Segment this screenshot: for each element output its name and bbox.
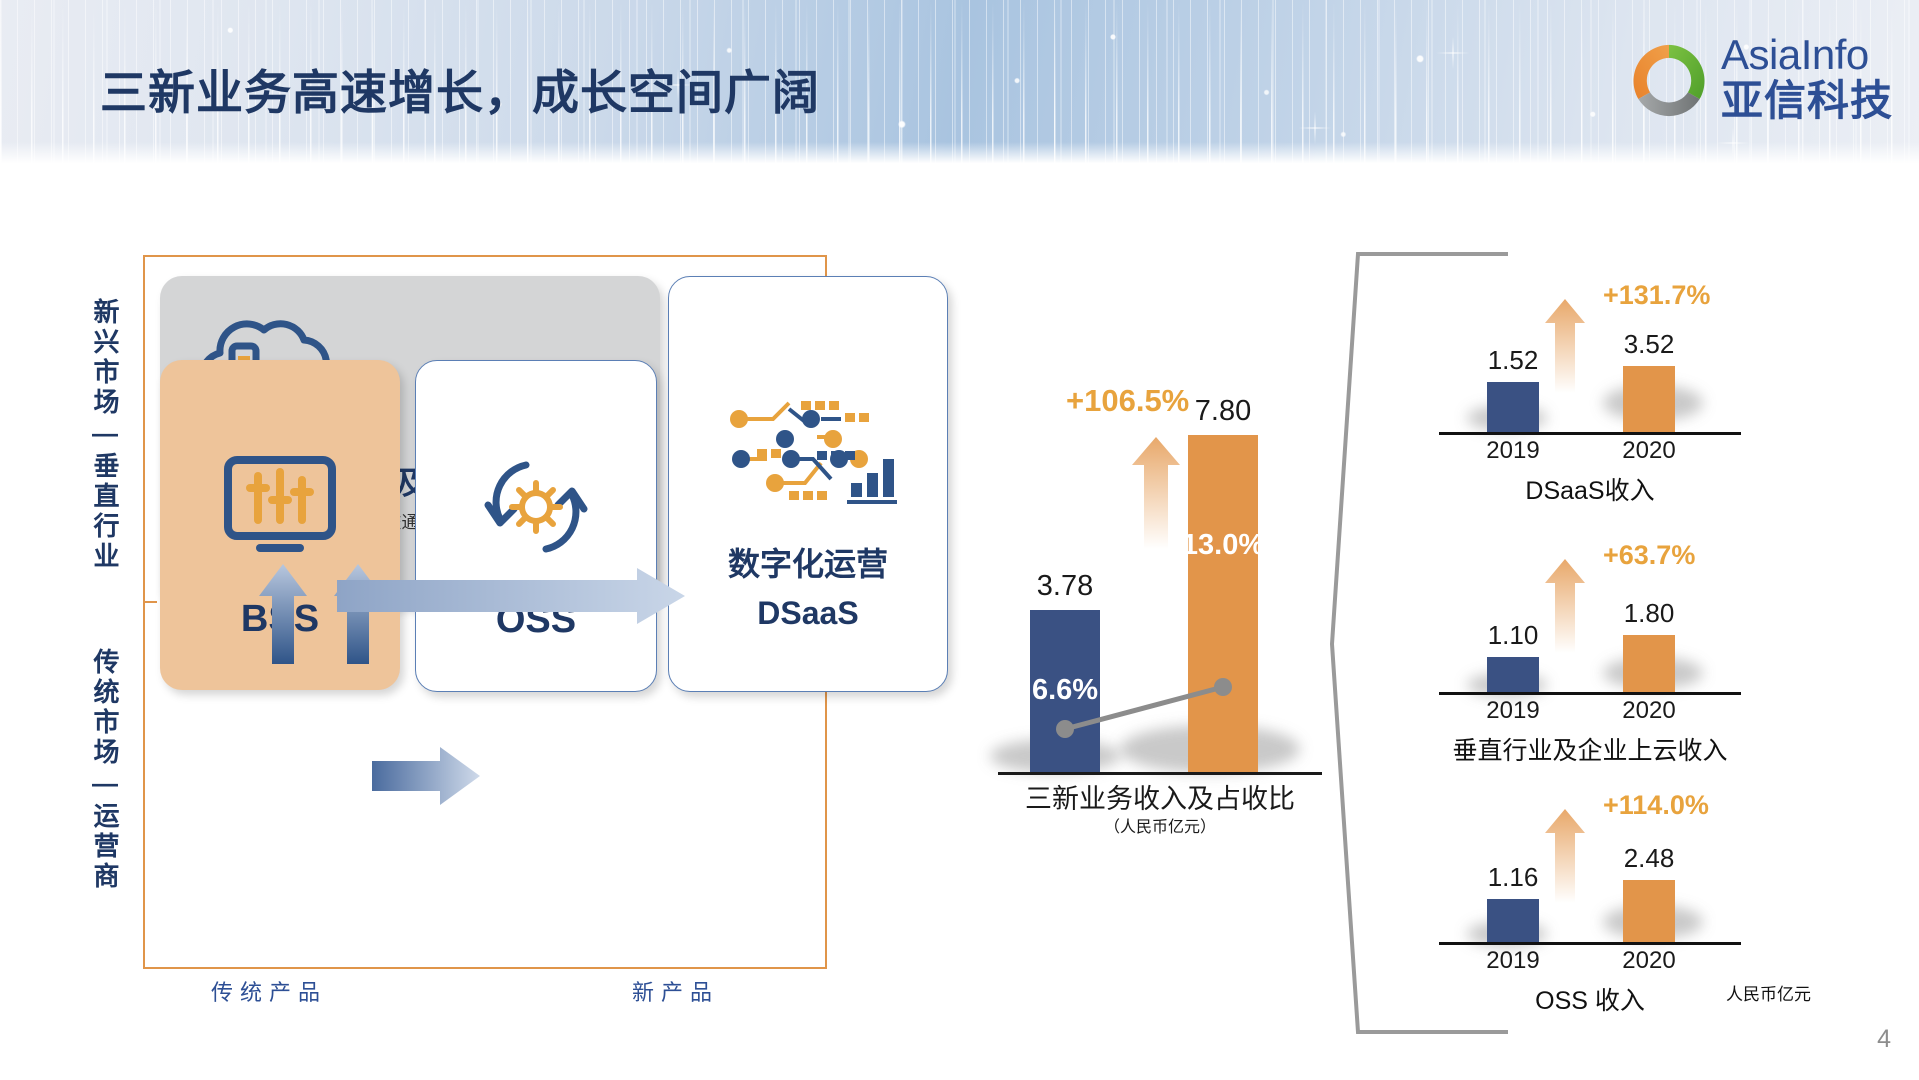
page-number: 4: [1877, 1025, 1891, 1054]
arrow-up-bss-to-cloud-icon: [255, 560, 311, 670]
asiainfo-ring-icon: [1627, 39, 1711, 123]
matrix-x-axis-left-label: 传统产品: [211, 975, 327, 1007]
main-chart-ratio-2020: 13.0%: [1168, 529, 1278, 562]
card-title-dsaas: 数字化运营: [669, 539, 947, 585]
matrix-y-axis-bottom-label: 传统市场—运营商: [92, 648, 118, 948]
oss-chart-bar-2019: [1487, 899, 1539, 942]
dsaas-chart-growth-label: +131.7%: [1603, 280, 1710, 311]
card-subtitle-dsaas: DSaaS: [669, 595, 947, 632]
arrow-right-bss-to-oss-icon: [372, 745, 482, 807]
logo-wordmark: AsiaInfo 亚信科技: [1721, 33, 1897, 129]
vertical-chart-bar-2019: [1487, 657, 1539, 692]
oss-chart-year-2020: 2020: [1589, 947, 1709, 975]
oss-chart-axis-line: [1439, 942, 1741, 945]
page-title: 三新业务高速增长，成长空间广阔: [100, 54, 820, 123]
vertical-chart-value-2020: 1.80: [1589, 598, 1709, 629]
main-chart-unit: （人民币亿元）: [980, 813, 1340, 837]
card-dsaas[interactable]: 数字化运营 DSaaS: [668, 276, 948, 692]
dsaas-chart: +131.7% 1.52 3.52 2019 2020 DSaaS收入: [1425, 285, 1755, 500]
dsaas-chart-title: DSaaS收入: [1425, 471, 1755, 507]
dsaas-chart-year-2019: 2019: [1453, 437, 1573, 465]
banner-bottom-fade: [0, 142, 1919, 168]
matrix-y-axis-top-label: 新兴市场—垂直行业: [92, 298, 118, 598]
dsaas-chart-bar-2019: [1487, 382, 1539, 432]
card-oss[interactable]: OSS: [415, 360, 657, 692]
vertical-chart-axis-line: [1439, 692, 1741, 695]
network-analytics-icon: [717, 397, 899, 509]
main-chart-caption: 三新业务收入及占收比: [980, 777, 1340, 816]
gear-refresh-icon: [474, 447, 598, 567]
main-chart-ratio-2019: 6.6%: [1010, 674, 1120, 707]
right-panel-unit-note: 人民币亿元: [1726, 980, 1811, 1005]
dsaas-chart-value-2020: 3.52: [1589, 329, 1709, 360]
dsaas-chart-bar-2020: [1623, 366, 1675, 432]
oss-chart: +114.0% 1.16 2.48 2019 2020 OSS 收入: [1425, 795, 1755, 1010]
main-chart-bar-2020: [1188, 435, 1258, 772]
oss-chart-year-2019: 2019: [1453, 947, 1573, 975]
main-chart-axis-line: [998, 772, 1322, 775]
oss-chart-title: OSS 收入: [1425, 981, 1755, 1017]
main-chart-value-2020: 7.80: [1163, 395, 1283, 428]
asiainfo-logo: AsiaInfo 亚信科技: [1627, 33, 1897, 129]
main-chart-value-2019: 3.78: [1005, 570, 1125, 603]
monitor-sliders-icon: [220, 452, 340, 560]
dsaas-chart-year-2020: 2020: [1589, 437, 1709, 465]
main-chart: +106.5% 3.78 6.6% 7.80 13.0% 三新业务收入及占收比 …: [980, 395, 1340, 835]
vertical-chart-growth-label: +63.7%: [1603, 540, 1695, 571]
matrix-x-axis-right-label: 新产品: [632, 975, 719, 1007]
oss-chart-value-2019: 1.16: [1453, 862, 1573, 893]
logo-text-cn: 亚信科技: [1721, 80, 1893, 122]
oss-chart-value-2020: 2.48: [1589, 843, 1709, 874]
dsaas-chart-value-2019: 1.52: [1453, 345, 1573, 376]
vertical-chart-year-2019: 2019: [1453, 697, 1573, 725]
arrow-right-to-dsaas-icon: [337, 568, 687, 632]
dsaas-chart-axis-line: [1439, 432, 1741, 435]
oss-chart-growth-label: +114.0%: [1603, 790, 1709, 821]
vertical-chart: +63.7% 1.10 1.80 2019 2020 垂直行业及企业上云收入: [1425, 545, 1755, 760]
logo-text-en: AsiaInfo: [1721, 34, 1869, 76]
vertical-chart-bar-2020: [1623, 635, 1675, 692]
oss-chart-bar-2020: [1623, 880, 1675, 942]
slide-canvas: 三新业务高速增长，成长空间广阔 AsiaInfo 亚信科技: [0, 0, 1919, 1080]
vertical-chart-value-2019: 1.10: [1453, 620, 1573, 651]
vertical-chart-year-2020: 2020: [1589, 697, 1709, 725]
vertical-chart-title: 垂直行业及企业上云收入: [1425, 731, 1755, 767]
